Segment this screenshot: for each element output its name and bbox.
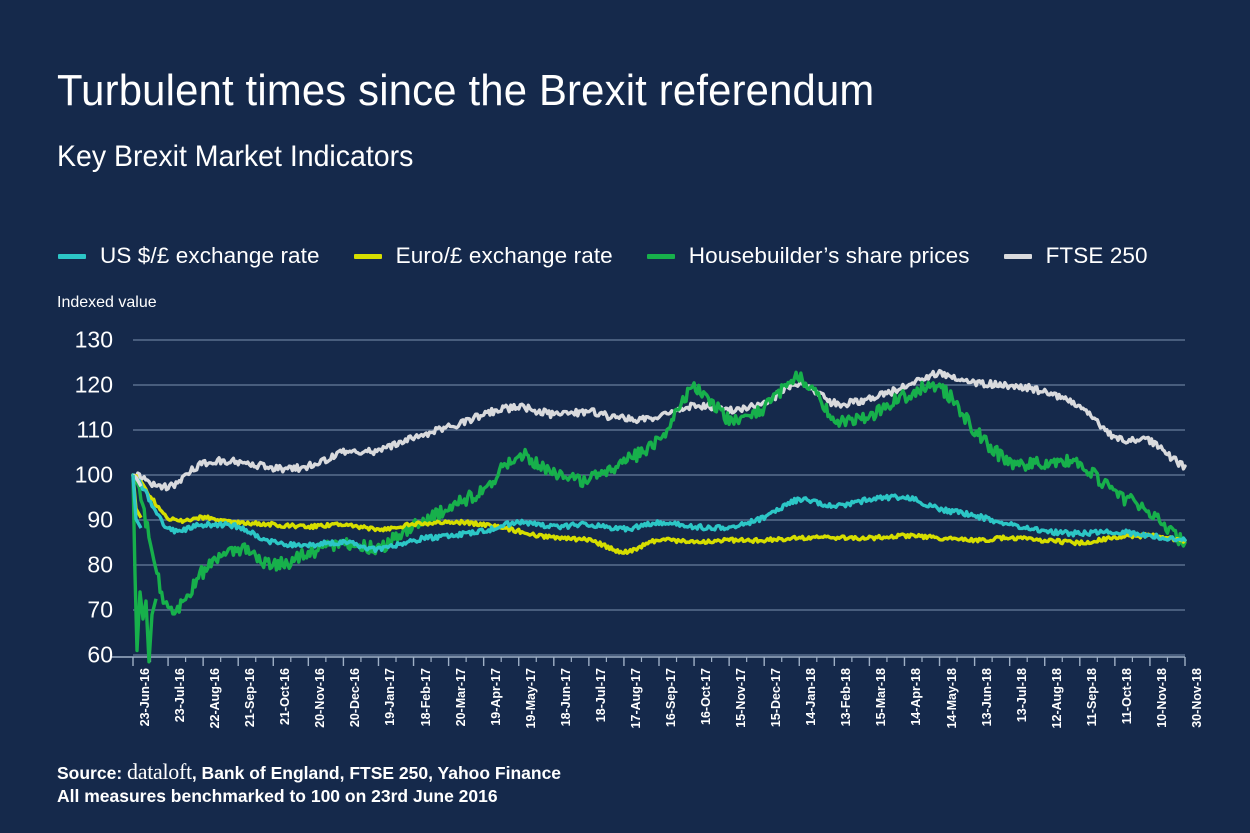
source-prefix: Source: [57,763,127,783]
benchmark-note: All measures benchmarked to 100 on 23rd … [57,785,561,808]
x-axis-ticks: 23-Jun-1623-Jul-1622-Aug-1621-Sep-1621-O… [0,0,1250,833]
x-tick-label: 20-Nov-16 [313,668,327,728]
x-tick-label: 15-Dec-17 [769,668,783,727]
x-tick-label: 20-Dec-16 [348,668,362,727]
x-tick-label: 23-Jul-16 [173,668,187,722]
x-tick-label: 13-Jun-18 [980,668,994,726]
x-tick-label: 11-Sep-18 [1085,668,1099,726]
x-tick-label: 19-May-17 [524,668,538,728]
x-tick-label: 21-Oct-16 [278,668,292,725]
x-tick-label: 14-Apr-18 [909,668,923,726]
x-tick-label: 23-Jun-16 [138,668,152,726]
source-footer: Source: dataloft, Bank of England, FTSE … [57,760,561,808]
dataloft-logo-text: dataloft [127,759,192,784]
x-tick-label: 16-Sep-17 [664,668,678,727]
source-rest: , Bank of England, FTSE 250, Yahoo Finan… [192,763,561,783]
x-tick-label: 20-Mar-17 [454,668,468,726]
x-tick-label: 12-Aug-18 [1050,668,1064,728]
x-tick-label: 14-Jan-18 [804,668,818,726]
x-tick-label: 16-Oct-17 [699,668,713,725]
x-tick-label: 19-Apr-17 [489,668,503,726]
x-tick-label: 21-Sep-16 [243,668,257,727]
x-tick-label: 18-Jun-17 [559,668,573,726]
x-tick-label: 13-Feb-18 [839,668,853,726]
x-tick-label: 18-Jul-17 [594,668,608,722]
x-tick-label: 15-Nov-17 [734,668,748,728]
x-tick-label: 19-Jan-17 [383,668,397,726]
x-tick-label: 15-Mar-18 [874,668,888,726]
x-tick-label: 22-Aug-16 [208,668,222,728]
x-tick-label: 10-Nov-18 [1155,668,1169,728]
x-tick-label: 14-May-18 [945,668,959,728]
x-tick-label: 30-Nov-18 [1190,668,1204,728]
x-tick-label: 18-Feb-17 [419,668,433,726]
x-tick-label: 13-Jul-18 [1015,668,1029,722]
slide-canvas: Turbulent times since the Brexit referen… [0,0,1250,833]
x-tick-label: 11-Oct-18 [1120,668,1134,724]
x-tick-label: 17-Aug-17 [629,668,643,728]
